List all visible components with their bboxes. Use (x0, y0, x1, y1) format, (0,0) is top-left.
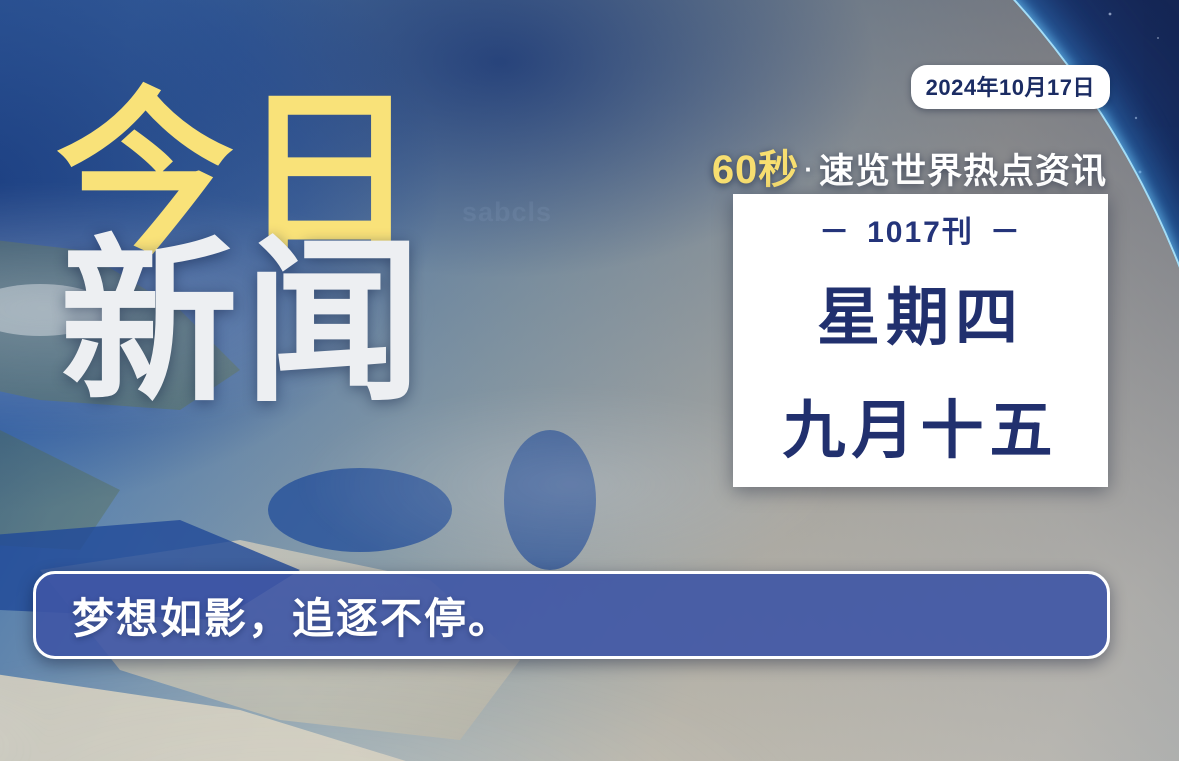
page-title-line-2: 新闻 (60, 240, 428, 406)
quote-bar: 梦想如影，追逐不停。 (33, 571, 1110, 659)
quote-text: 梦想如影，追逐不停。 (36, 585, 512, 646)
weekday-label: 星期四 (817, 267, 1024, 358)
issue-number: 1017刊 (867, 207, 974, 251)
tagline: 60秒·速览世界热点资讯 (712, 137, 1107, 195)
poster-title: 今日 新闻 (56, 92, 428, 405)
background-watermark: sabcls (462, 197, 552, 228)
news-poster: sabcls 今日 新闻 2024年10月17日 60秒·速览世界热点资讯 － … (0, 0, 1179, 761)
issue-row: － 1017刊 － (819, 207, 1022, 251)
tagline-highlight: 60秒 (712, 148, 800, 192)
tagline-separator: · (804, 154, 814, 184)
lunar-date-label: 九月十五 (783, 380, 1059, 471)
date-badge: 2024年10月17日 (911, 65, 1110, 109)
issue-dash-left: － (819, 207, 851, 251)
issue-dash-right: － (990, 207, 1022, 251)
tagline-text: 速览世界热点资讯 (819, 152, 1107, 191)
info-card: － 1017刊 － 星期四 九月十五 (733, 194, 1108, 487)
